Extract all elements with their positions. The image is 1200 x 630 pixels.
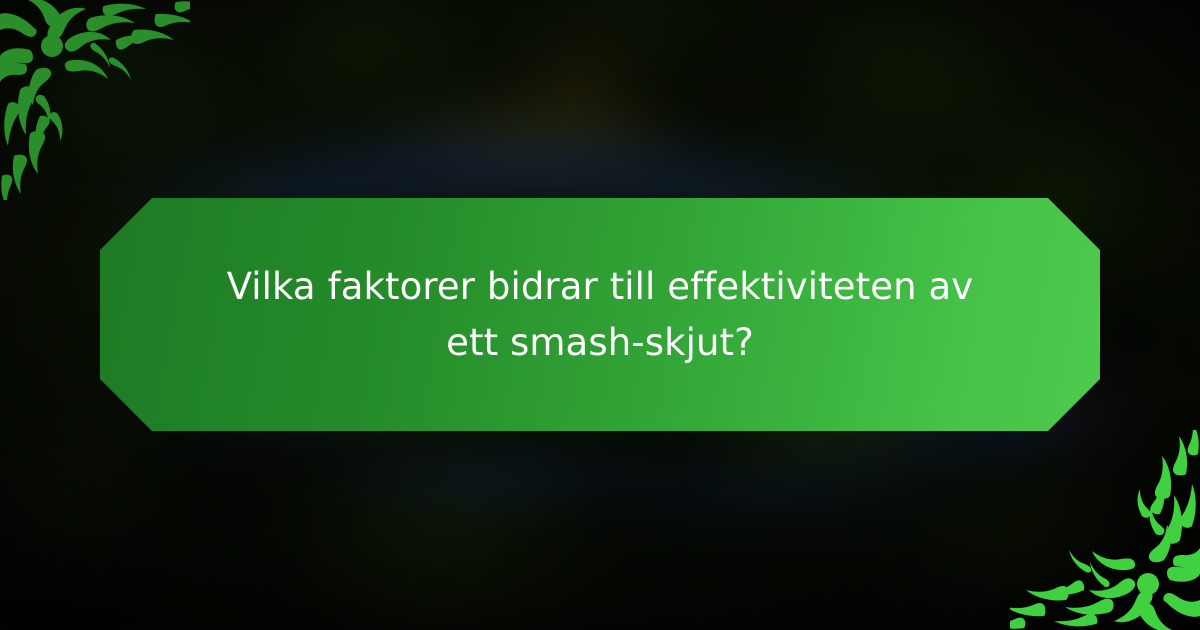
ornament-bottom-right — [1010, 430, 1200, 630]
social-share-card: Vilka faktorer bidrar till effektivitete… — [0, 0, 1200, 630]
page-title: Vilka faktorer bidrar till effektivitete… — [210, 259, 990, 371]
ornament-top-left — [0, 0, 190, 200]
title-banner: Vilka faktorer bidrar till effektivitete… — [100, 198, 1100, 431]
